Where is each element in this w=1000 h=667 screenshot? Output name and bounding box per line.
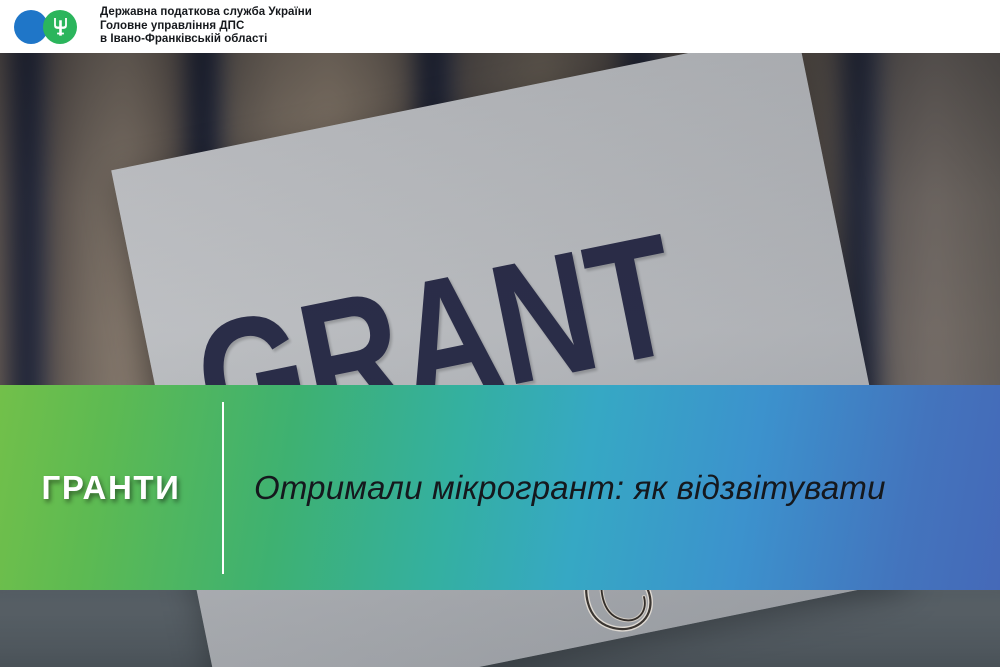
org-line-1: Державна податкова служба України bbox=[100, 6, 312, 19]
org-line-3: в Івано-Франківській області bbox=[100, 33, 312, 46]
category-label: ГРАНТИ bbox=[0, 469, 222, 507]
org-line-2: Головне управління ДПС bbox=[100, 20, 312, 33]
page-title: Отримали мікрогрант: як відзвітувати bbox=[254, 467, 1000, 508]
brand-logo[interactable] bbox=[14, 10, 86, 44]
organisation-name: Державна податкова служба України Головн… bbox=[100, 6, 312, 46]
category-ribbon: ГРАНТИ Отримали мікрогрант: як відзвітув… bbox=[0, 385, 1000, 590]
site-header: Державна податкова служба України Головн… bbox=[0, 0, 1000, 53]
trident-icon bbox=[43, 10, 77, 44]
ribbon-divider bbox=[222, 402, 224, 574]
page-root: Державна податкова служба України Головн… bbox=[0, 0, 1000, 667]
